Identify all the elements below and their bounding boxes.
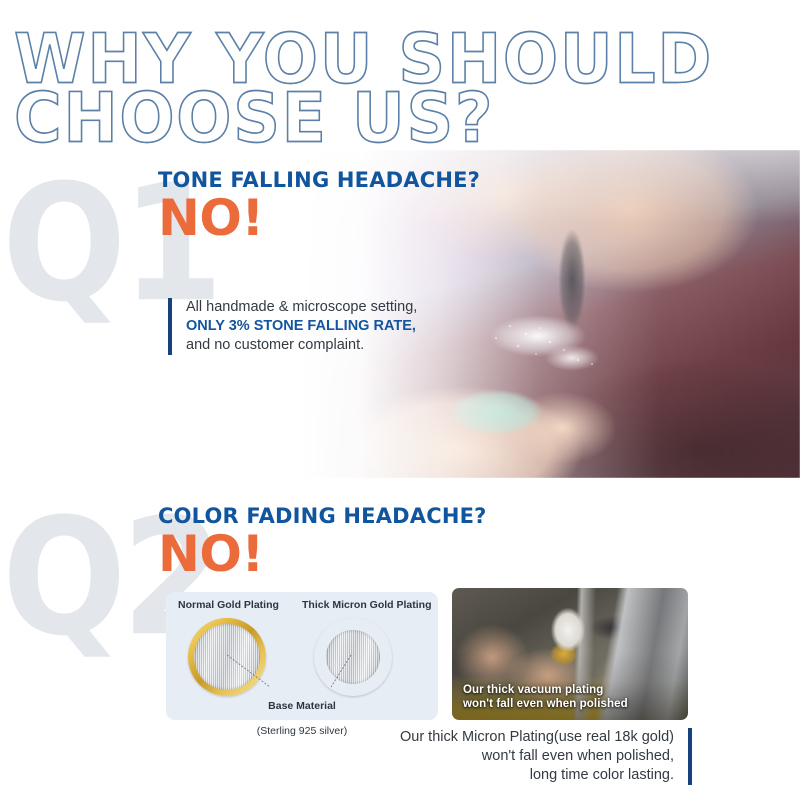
thick-plating-label: Thick Micron Gold Plating	[302, 599, 432, 611]
gold-plating-comparison-panel: Normal Gold Plating Thick Micron Gold Pl…	[166, 592, 438, 720]
q1-quote-line-3: and no customer complaint.	[186, 336, 417, 355]
q2-closing-line-2: won't fall even when polished,	[400, 747, 674, 766]
base-material-title: Base Material	[268, 700, 336, 712]
base-material-sub: (Sterling 925 silver)	[257, 725, 347, 737]
q1-text-column: TONE FALLING HEADACHE? NO!	[158, 168, 480, 244]
q2-closing-line-3: long time color lasting.	[400, 766, 674, 785]
q1-answer: NO!	[158, 193, 480, 244]
page-title-line-2: CHOOSE US?	[14, 87, 800, 151]
base-material-label: Base Material (Sterling 925 silver)	[226, 688, 378, 737]
normal-plating-label: Normal Gold Plating	[178, 599, 279, 611]
section-q2: Q2 COLOR FADING HEADACHE? NO! Normal Gol…	[0, 490, 800, 800]
q2-text-column: COLOR FADING HEADACHE? NO!	[158, 504, 487, 580]
section-q1: Q1 TONE FALLING HEADACHE? NO! All handma…	[0, 150, 800, 490]
q1-quote-line-2: ONLY 3% STONE FALLING RATE,	[186, 317, 417, 336]
infographic-page: WHY YOU SHOULD CHOOSE US? Q1 TONE FALLIN…	[0, 0, 800, 800]
q2-closing-line-1: Our thick Micron Plating(use real 18k go…	[400, 728, 674, 747]
q2-closing-block: Our thick Micron Plating(use real 18k go…	[400, 728, 692, 785]
normal-plating-core	[194, 624, 260, 690]
page-title: WHY YOU SHOULD CHOOSE US?	[14, 28, 774, 141]
photo-caption: Our thick vacuum plating won't fall even…	[463, 683, 628, 712]
normal-plating-coin	[188, 618, 266, 696]
q1-quote-block: All handmade & microscope setting, ONLY …	[168, 298, 417, 355]
thick-plating-coin	[314, 618, 392, 696]
ring-polishing-photo: Our thick vacuum plating won't fall even…	[452, 588, 688, 720]
thick-plating-core	[326, 630, 380, 684]
q1-quote-line-1: All handmade & microscope setting,	[186, 298, 417, 317]
q2-answer: NO!	[158, 529, 487, 580]
